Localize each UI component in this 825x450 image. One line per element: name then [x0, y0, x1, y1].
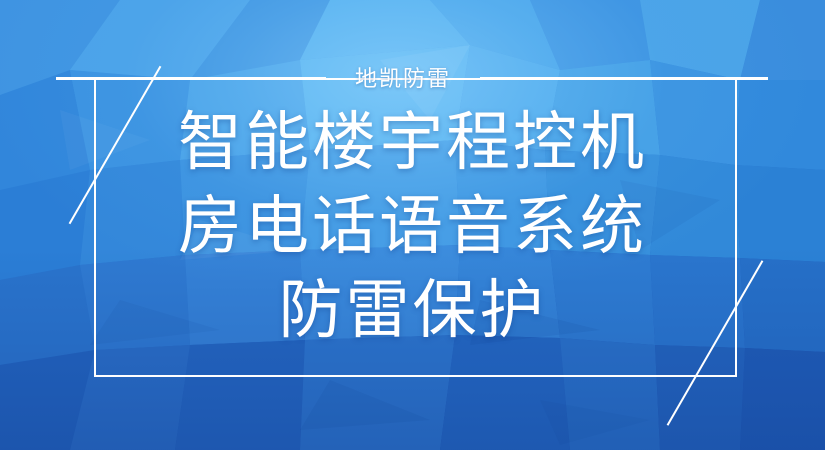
headline-line-1: 智能楼宇程控机	[0, 100, 825, 184]
caption-rule-right	[480, 77, 768, 80]
caption-rule-left	[56, 77, 326, 80]
brand-caption: 地凯防雷	[326, 56, 480, 98]
headline-line-3: 防雷保护	[0, 268, 825, 352]
headline: 智能楼宇程控机 房电话语音系统 防雷保护	[0, 100, 825, 352]
promo-banner: 地凯防雷 智能楼宇程控机 房电话语音系统 防雷保护	[0, 0, 825, 450]
headline-line-2: 房电话语音系统	[0, 184, 825, 268]
